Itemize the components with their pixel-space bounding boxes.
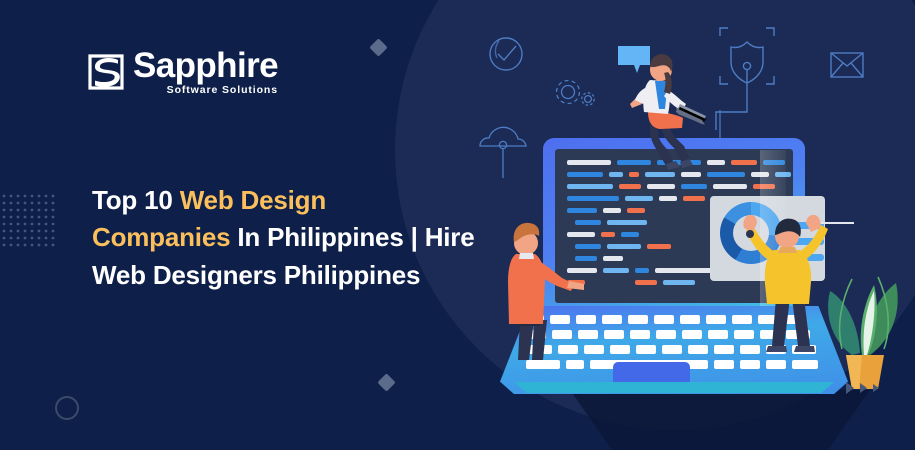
hero-banner: Sapphire Software Solutions Top 10 Web D… xyxy=(0,0,915,450)
headline-part-1: Top 10 xyxy=(92,185,180,215)
brand-name: Sapphire xyxy=(133,48,278,83)
person-pointing-left xyxy=(498,202,584,362)
page-title: Top 10 Web Design Companies In Philippin… xyxy=(92,182,492,294)
ring-outline-shape xyxy=(55,396,79,420)
check-circle-icon xyxy=(483,32,527,76)
sapphire-s-mark-icon xyxy=(88,54,124,90)
envelope-icon xyxy=(830,52,864,78)
headline-accent-1: Web Design xyxy=(180,185,326,215)
brand-logo[interactable]: Sapphire Software Solutions xyxy=(88,48,278,96)
diamond-shape xyxy=(369,38,387,56)
brand-tagline: Software Solutions xyxy=(167,85,278,96)
triangle-accents xyxy=(846,382,882,394)
laptop-base-lip xyxy=(507,382,841,393)
diamond-shape xyxy=(377,373,395,391)
gears-icon xyxy=(552,76,600,110)
person-sitting-laptop xyxy=(628,52,714,172)
cloud-icon xyxy=(476,118,540,178)
headline-accent-2: Companies xyxy=(92,222,230,252)
dot-grid xyxy=(2,194,60,252)
